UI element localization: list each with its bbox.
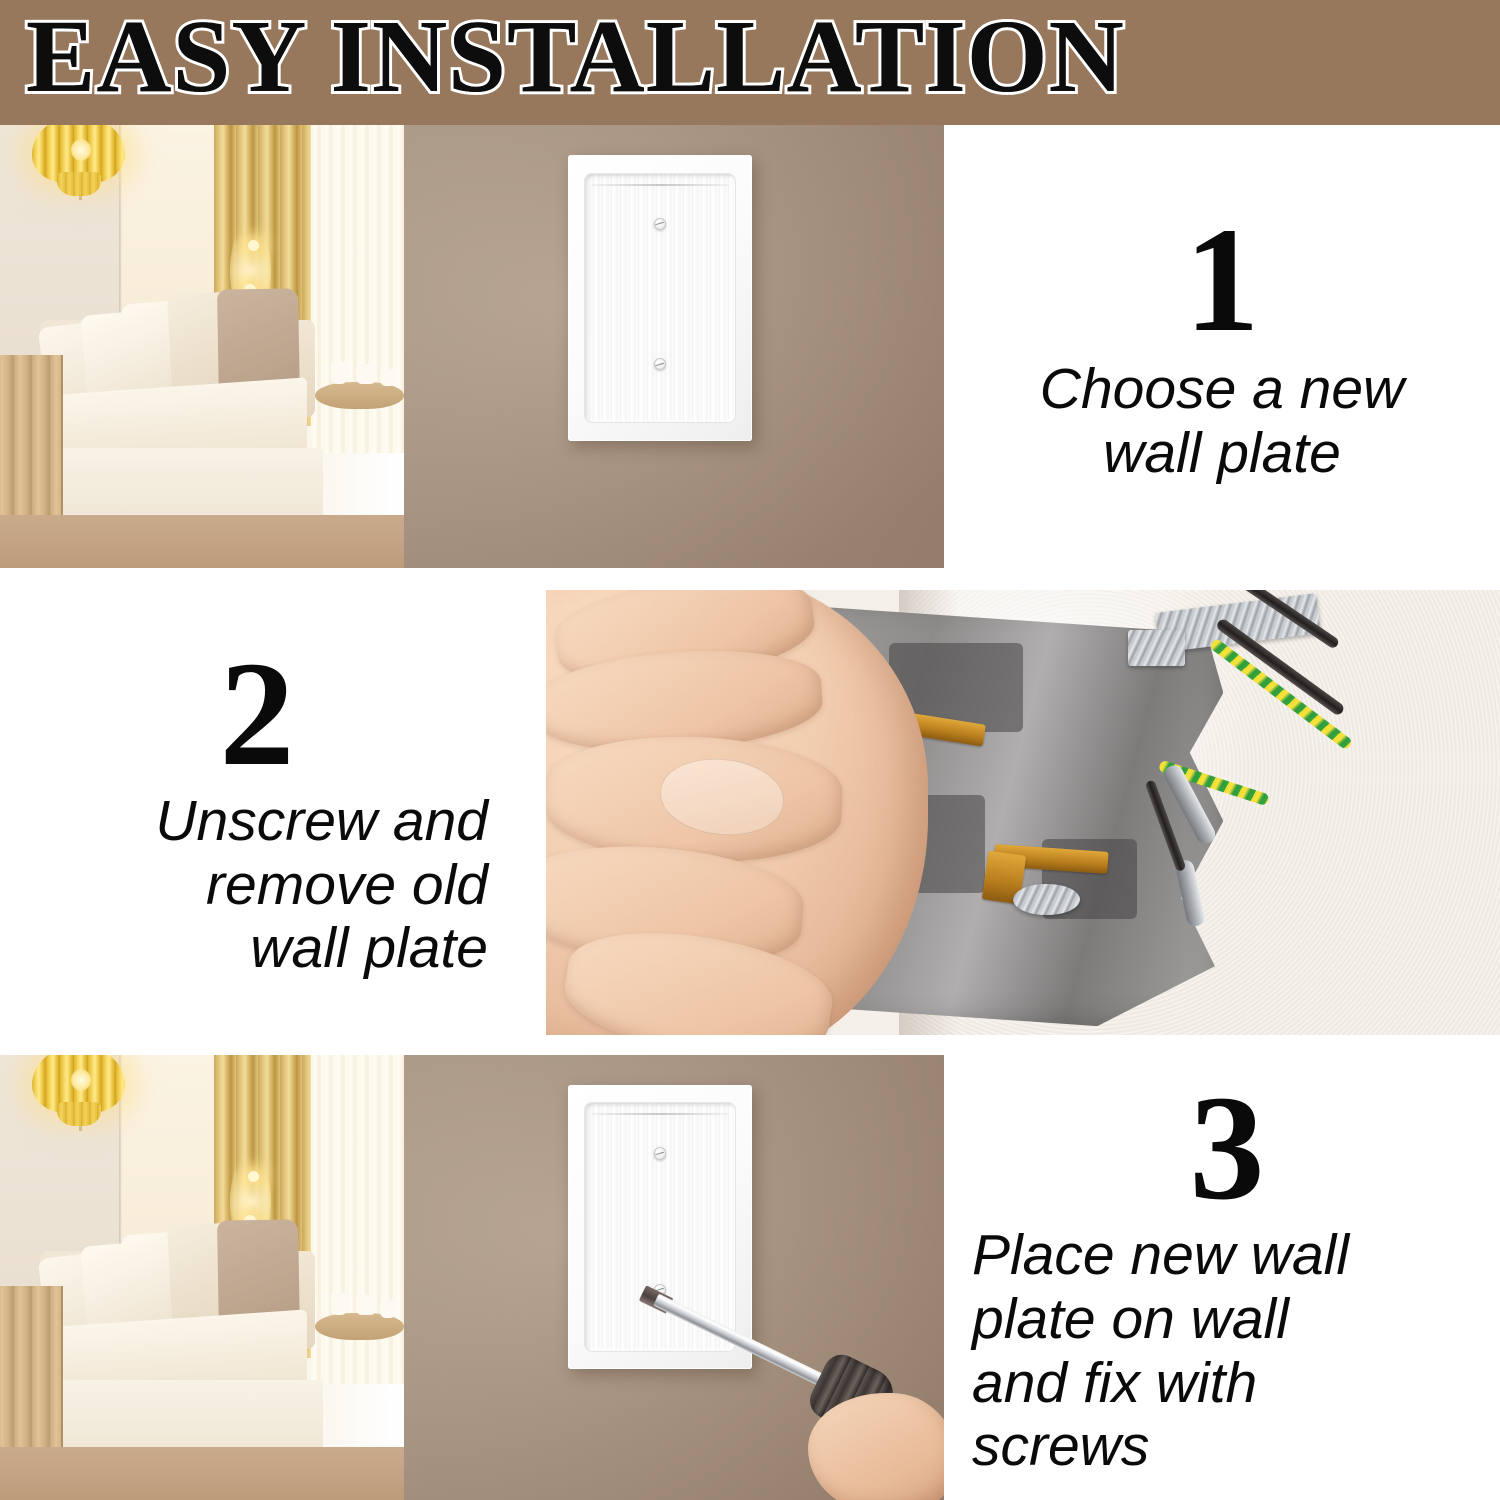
- step-1-line-1: Choose a new: [970, 358, 1474, 422]
- room-floor: [0, 515, 404, 568]
- step-3-number: 3: [972, 1076, 1482, 1220]
- cup-3: [380, 369, 396, 387]
- wall-plate-beadboard-panel: [585, 174, 736, 423]
- step-2-text: 2 Unscrew and remove old wall plate: [0, 568, 546, 1055]
- cup-3: [380, 1300, 396, 1318]
- mounting-claw-bottom: [1013, 884, 1080, 915]
- page-title: EASY INSTALLATION: [26, 0, 1125, 119]
- step-3-line-1: Place new wall: [972, 1224, 1482, 1288]
- room-floor: [0, 1447, 404, 1500]
- step-2-number: 2: [26, 642, 488, 786]
- wall-plate-screwdriver-photo: [404, 1055, 944, 1500]
- step-1-number: 1: [970, 208, 1474, 352]
- wall-plate-screw-bottom: [654, 358, 666, 370]
- step-1-line-2: wall plate: [970, 422, 1474, 486]
- step-3-text: 3 Place new wall plate on wall and fix w…: [944, 1055, 1500, 1500]
- cup-2: [356, 1295, 376, 1315]
- step-3-line-4: screws: [972, 1415, 1482, 1479]
- living-room-photo: [0, 1055, 404, 1500]
- cup-1: [331, 1293, 347, 1315]
- cup-1: [331, 362, 347, 384]
- wall-plate-screw-top: [654, 1147, 666, 1159]
- wall-plate-beadboard-panel: [585, 1103, 736, 1350]
- step-3-row: 3 Place new wall plate on wall and fix w…: [0, 1055, 1500, 1500]
- pendant-lamp-skirt: [57, 1102, 101, 1126]
- step-2-row: 2 Unscrew and remove old wall plate: [0, 568, 1500, 1055]
- step-3-line-2: plate on wall: [972, 1288, 1482, 1352]
- wall-plate-photo: [404, 125, 944, 568]
- step-3-line-3: and fix with: [972, 1352, 1482, 1416]
- step-2-line-1: Unscrew and: [26, 790, 488, 854]
- cup-2: [356, 364, 376, 384]
- wall-plate: [568, 155, 752, 441]
- step-2-line-3: wall plate: [26, 917, 488, 981]
- step-1-row: 1 Choose a new wall plate: [0, 125, 1500, 568]
- step-2-line-2: remove old: [26, 854, 488, 918]
- infographic-page: EASY INSTALLATION: [0, 0, 1500, 1500]
- wall-plate-screw-top: [654, 218, 666, 230]
- pendant-lamp-bulb: [71, 139, 91, 161]
- header-banner: EASY INSTALLATION: [0, 0, 1500, 125]
- mounting-claw-screw: [1128, 630, 1185, 666]
- living-room-photo: [0, 125, 404, 568]
- pendant-lamp-skirt: [57, 172, 101, 196]
- socket-removal-photo: [546, 590, 1500, 1035]
- step-1-text: 1 Choose a new wall plate: [944, 125, 1500, 568]
